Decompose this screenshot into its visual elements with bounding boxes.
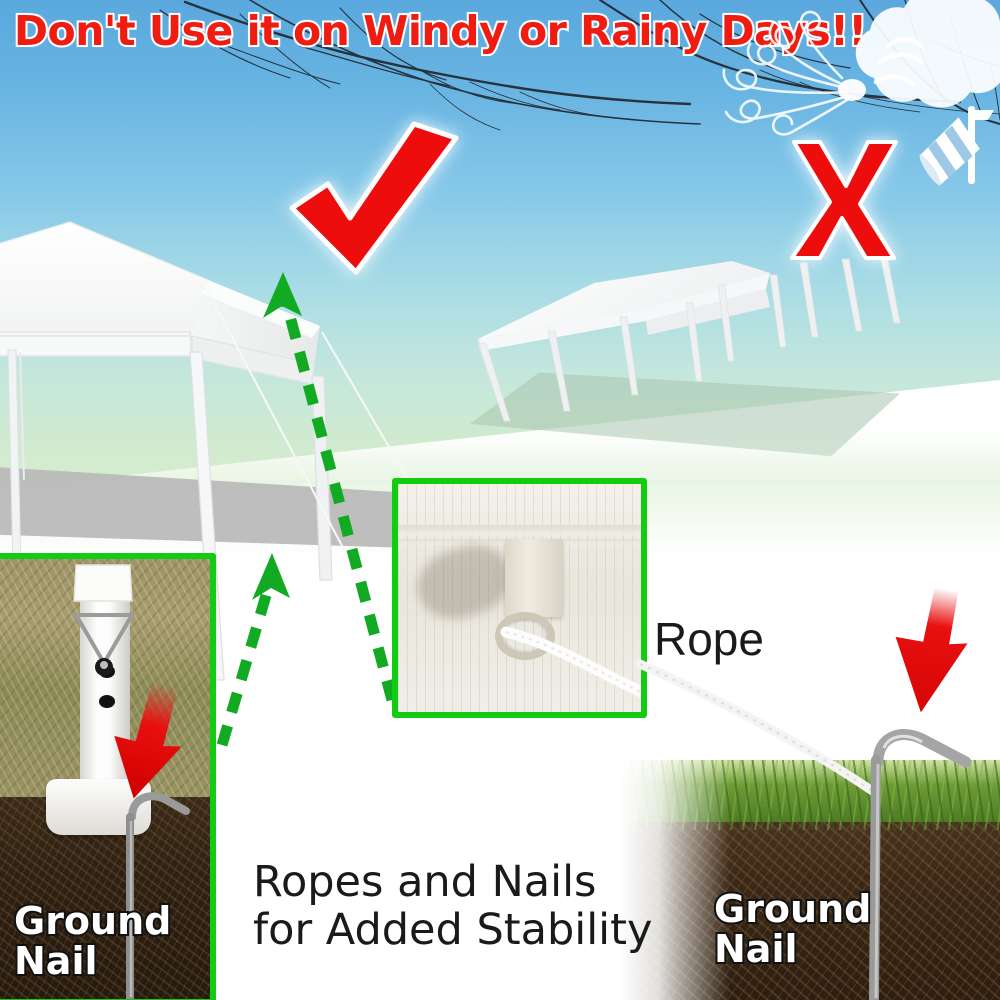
windsock-icon [911,106,994,187]
red-down-arrow-icon [890,585,970,715]
blowing-cloud-icon [856,0,1000,107]
red-x-mark-icon [790,140,898,260]
stability-caption-line2: for Added Stability [253,906,652,954]
red-down-arrow-icon [108,682,186,800]
stability-caption: Ropes and Nails for Added Stability [253,858,652,954]
instruction-graphic: Don't Use it on Windy or Rainy Days!! [0,0,1000,1000]
rope-detail-inset[interactable] [392,478,647,718]
stability-caption-line1: Ropes and Nails [253,858,652,906]
ground-nail-label-left: Ground Nail [14,902,171,981]
rope-label: Rope [654,612,764,666]
pole-and-nail-inset[interactable]: Ground Nail [0,553,216,1000]
red-check-mark-icon [286,122,461,277]
ground-nail-label-right: Ground Nail [714,890,871,969]
rope-strand [398,484,641,712]
wind-swirl-icon [724,12,850,134]
